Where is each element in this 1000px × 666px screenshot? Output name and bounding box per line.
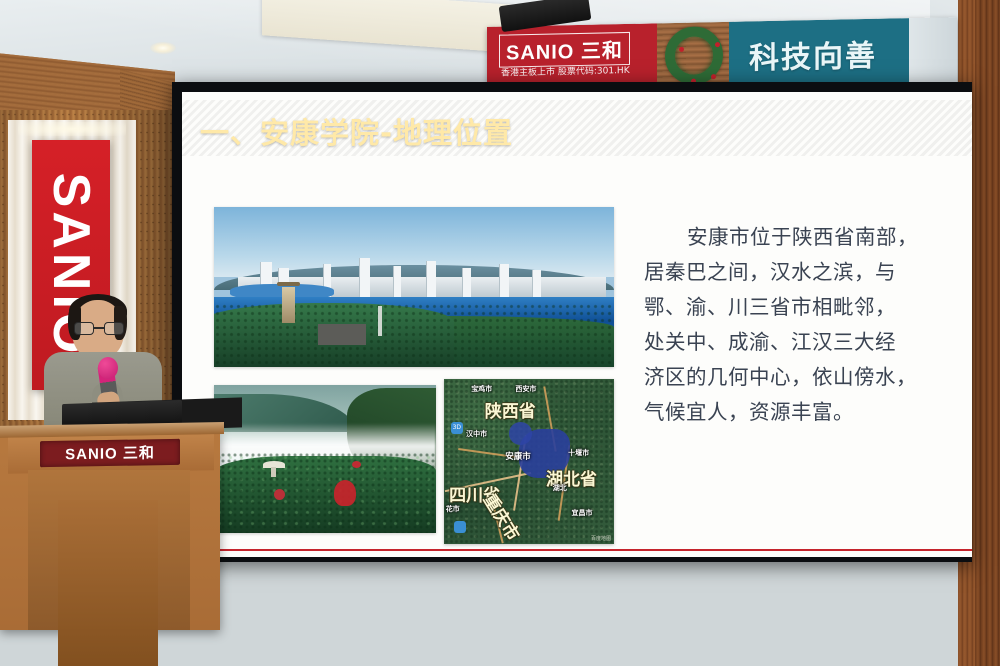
- photo-red-flowers: [352, 461, 361, 468]
- slide-title: 一、安康学院-地理位置: [200, 110, 513, 152]
- photo-pavilion: [263, 461, 285, 477]
- photo-red-flowers: [334, 480, 356, 506]
- map-city-label: 宝鸡市: [471, 384, 492, 394]
- photo-forest-texture: [214, 303, 614, 367]
- podium-brand-text: SANIO 三和: [65, 442, 155, 465]
- photo-tower: [378, 306, 382, 336]
- slide-image-city-panorama: [214, 207, 614, 367]
- glasses-icon: [74, 322, 124, 335]
- banner-slogan-text: 科技向善: [749, 31, 877, 78]
- body-line: 济区的几何中心，依山傍水，: [644, 360, 956, 395]
- slide-body-text: 安康市位于陕西省南部， 居秦巴之间，汉水之滨，与 鄂、渝、川三省市相毗邻， 处关…: [644, 220, 956, 430]
- map-city-label: 十堰市: [568, 448, 589, 458]
- map-province-label: 陕西省: [485, 397, 536, 422]
- sanio-listing-info: 香港主板上市 股票代码:301.HK: [501, 63, 630, 79]
- map-city-label: 花市: [446, 504, 460, 514]
- map-water-body: [509, 422, 533, 445]
- christmas-wreath-icon: [665, 26, 723, 85]
- podium-brand-plate: SANIO 三和: [40, 439, 180, 467]
- sanio-logo: SANIO 三和: [499, 32, 630, 68]
- foreground-plants: [0, 520, 1000, 666]
- slide-title-bar: 一、安康学院-地理位置: [182, 100, 972, 156]
- projection-screen: 一、安康学院-地理位置: [182, 92, 972, 557]
- map-city-label: 西安市: [515, 384, 536, 394]
- microphone-head-icon: [98, 357, 118, 379]
- presentation-scene: SANIO SANIO 三和 香港主板上市 股票代码:301.HK 科技向善 一…: [0, 0, 1000, 666]
- alcove-uplight: [18, 122, 126, 136]
- body-line: 处关中、成渝、江汉三大经: [644, 325, 956, 360]
- body-line: 鄂、渝、川三省市相毗邻，: [644, 290, 956, 325]
- map-city-label-ankang: 安康市: [505, 450, 531, 462]
- map-city-label: 宜昌市: [572, 508, 593, 518]
- map-3d-badge-icon: 3D: [451, 422, 463, 434]
- map-city-label: 汉中市: [466, 429, 487, 439]
- body-line: 安康市位于陕西省南部，: [644, 220, 956, 255]
- banner-slogan-panel: 科技向善: [729, 18, 909, 88]
- slide-image-mountain-mist: [214, 385, 436, 533]
- banner-end-panel: [909, 17, 957, 84]
- downlight-icon: [150, 42, 176, 54]
- photo-hillside-building: [318, 324, 366, 345]
- body-line: 气候宜人，资源丰富。: [644, 395, 956, 430]
- body-line: 居秦巴之间，汉水之滨，与: [644, 255, 956, 290]
- map-region-label: 湖北: [553, 483, 567, 493]
- photo-pagoda: [282, 287, 295, 323]
